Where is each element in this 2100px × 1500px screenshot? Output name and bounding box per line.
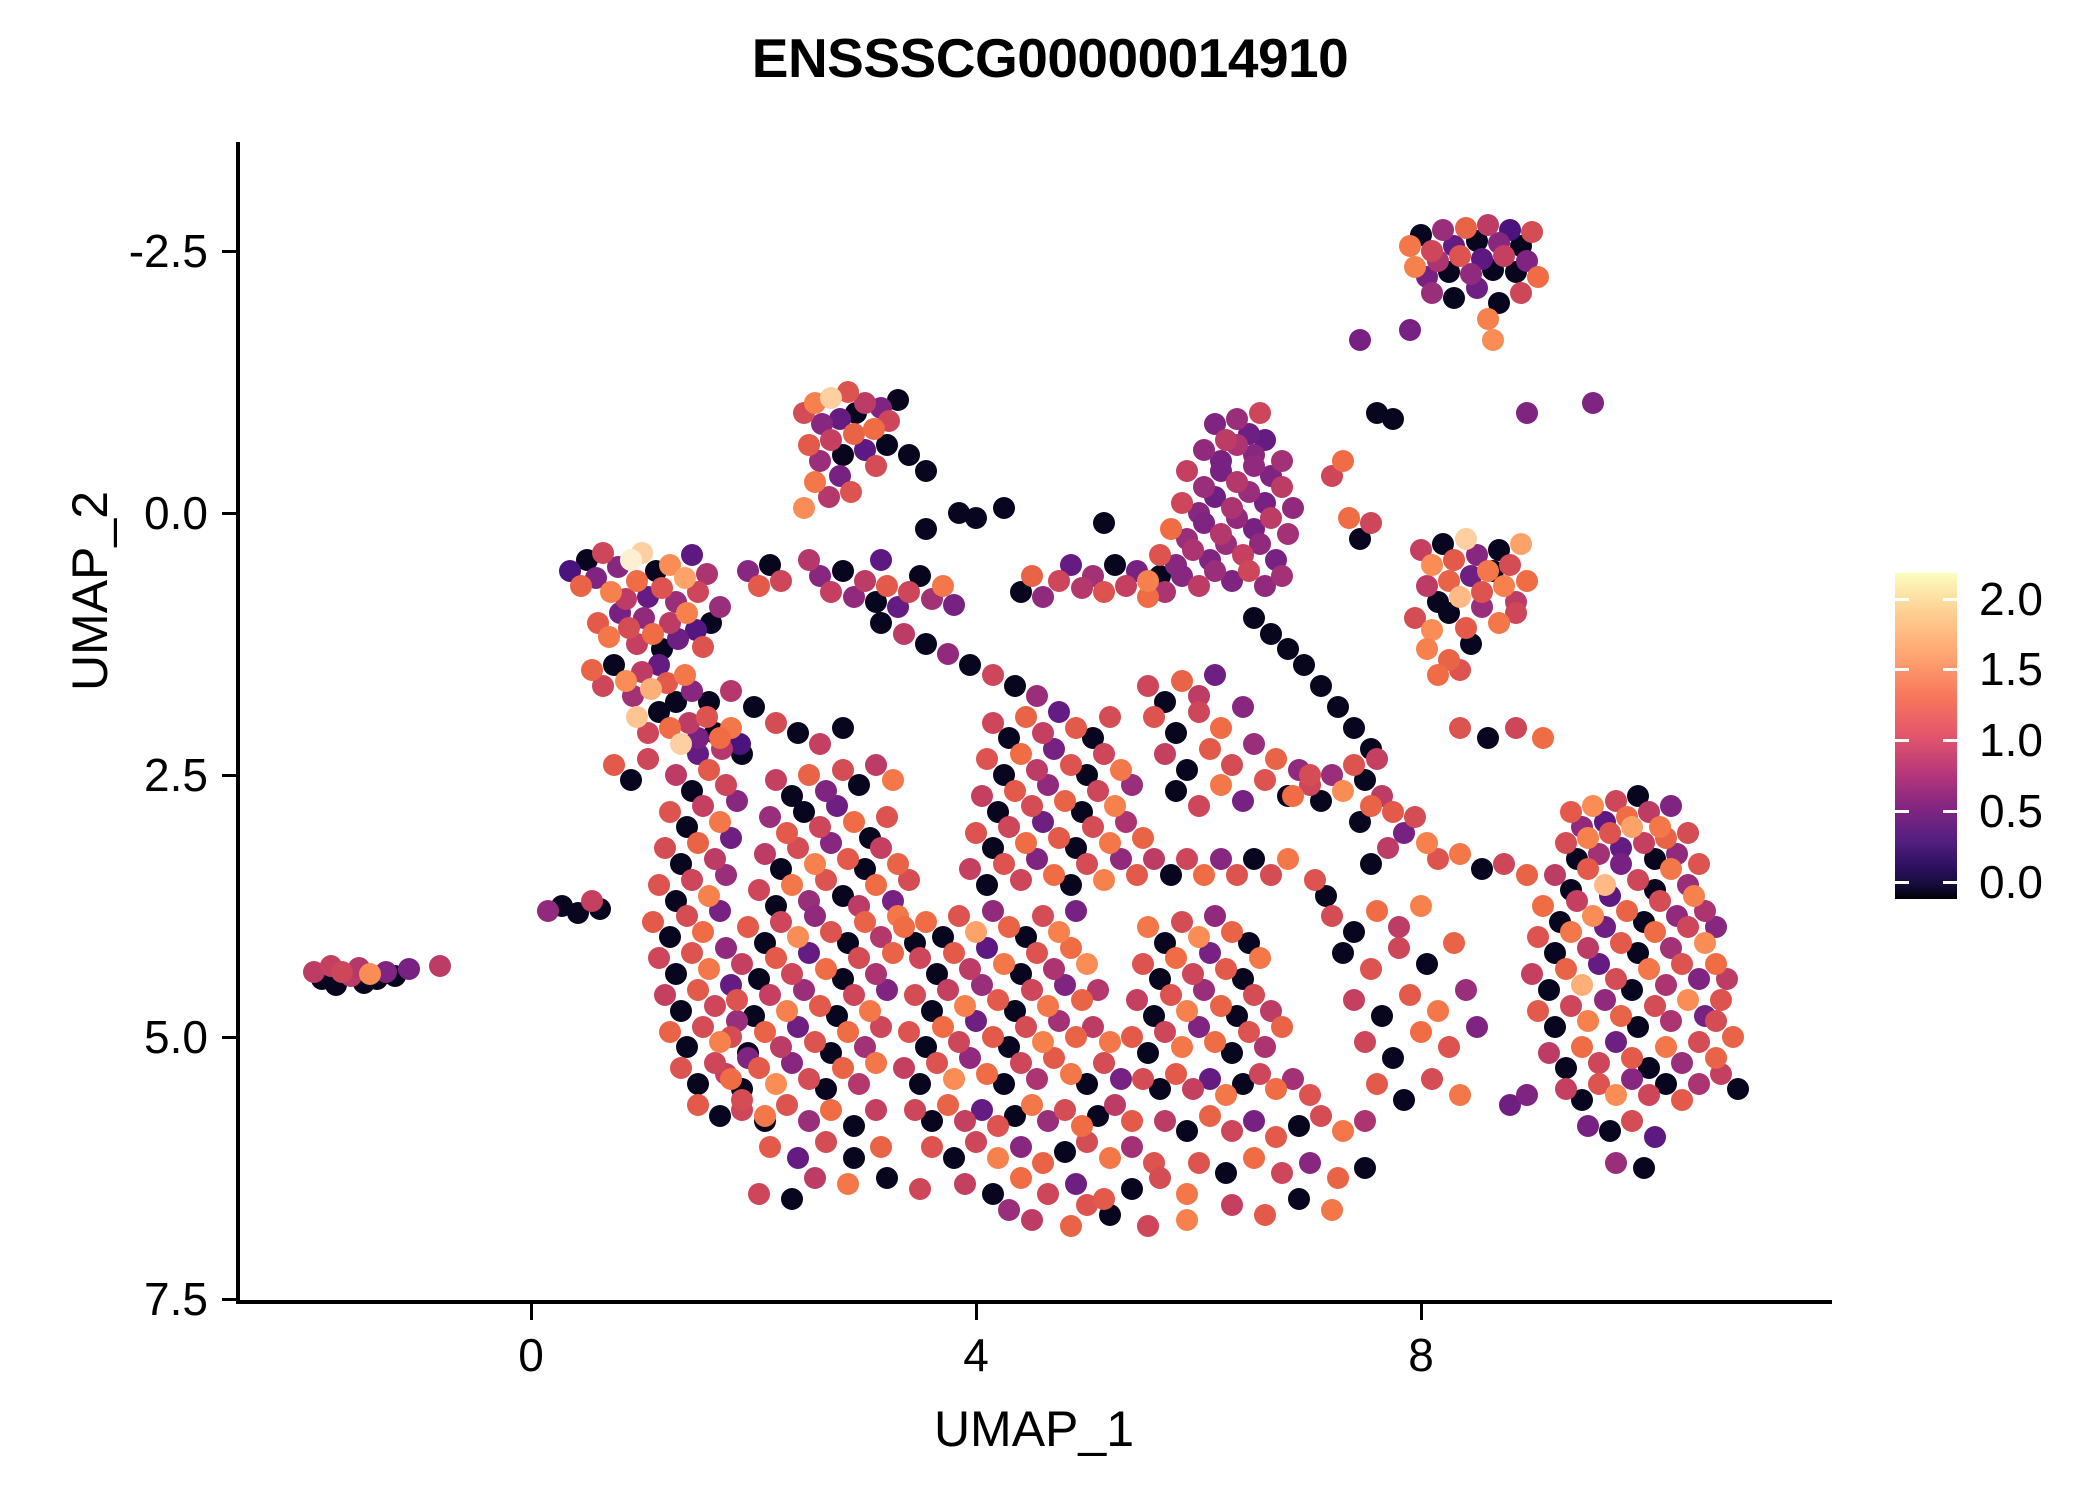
scatter-point	[843, 1115, 865, 1137]
x-tick-mark	[975, 1304, 978, 1320]
scatter-point	[987, 1147, 1009, 1169]
scatter-point	[698, 958, 720, 980]
colorbar-tick-mark	[1895, 598, 1909, 601]
scatter-point	[1188, 926, 1210, 948]
scatter-point	[1577, 1010, 1599, 1032]
scatter-point	[1021, 1209, 1043, 1231]
scatter-point	[1243, 1110, 1265, 1132]
scatter-point	[1288, 1188, 1310, 1210]
scatter-point	[659, 801, 681, 823]
scatter-point	[1660, 858, 1682, 880]
scatter-point	[1093, 581, 1115, 603]
scatter-point	[1449, 245, 1471, 267]
scatter-point	[1527, 266, 1549, 288]
scatter-point	[1416, 575, 1438, 597]
scatter-point	[965, 1131, 987, 1153]
scatter-point	[1449, 1084, 1471, 1106]
scatter-point	[870, 612, 892, 634]
scatter-point	[832, 759, 854, 781]
scatter-point	[1188, 575, 1210, 597]
scatter-point	[876, 806, 898, 828]
scatter-point	[804, 853, 826, 875]
scatter-point	[1110, 759, 1132, 781]
scatter-point	[959, 654, 981, 676]
scatter-point	[1132, 827, 1154, 849]
scatter-point	[1015, 832, 1037, 854]
scatter-point	[1321, 905, 1343, 927]
scatter-point	[1176, 1209, 1198, 1231]
scatter-point	[815, 958, 837, 980]
scatter-point	[1366, 1073, 1388, 1095]
scatter-point	[581, 659, 603, 681]
scatter-point	[876, 575, 898, 597]
colorbar-tick-mark	[1895, 668, 1909, 671]
scatter-point	[709, 596, 731, 618]
scatter-point	[709, 811, 731, 833]
scatter-point	[1416, 832, 1438, 854]
scatter-point	[1271, 565, 1293, 587]
scatter-point	[1582, 392, 1604, 414]
scatter-point	[1555, 832, 1577, 854]
scatter-point	[696, 706, 718, 728]
scatter-point	[692, 636, 714, 658]
scatter-point	[698, 885, 720, 907]
scatter-point	[1671, 1052, 1693, 1074]
scatter-point	[1226, 471, 1248, 493]
scatter-point	[737, 916, 759, 938]
scatter-point	[863, 418, 885, 440]
scatter-point	[932, 575, 954, 597]
scatter-point	[1360, 512, 1382, 534]
scatter-point	[915, 518, 937, 540]
scatter-point	[1093, 1052, 1115, 1074]
y-tick-mark	[222, 1036, 236, 1039]
scatter-point	[1149, 1167, 1171, 1189]
scatter-point	[1026, 942, 1048, 964]
scatter-point	[993, 853, 1015, 875]
scatter-point	[882, 769, 904, 791]
scatter-point	[1249, 947, 1271, 969]
scatter-point	[1221, 921, 1243, 943]
scatter-point	[1438, 1036, 1460, 1058]
scatter-point	[1004, 780, 1026, 802]
scatter-point	[1160, 864, 1182, 886]
scatter-point	[1143, 706, 1165, 728]
scatter-point	[1021, 1094, 1043, 1116]
scatter-point	[1254, 1036, 1276, 1058]
scatter-point	[1054, 790, 1076, 812]
scatter-point	[1060, 754, 1082, 776]
scatter-point	[1199, 1105, 1221, 1127]
scatter-point	[1621, 1110, 1643, 1132]
scatter-point	[1449, 717, 1471, 739]
scatter-point	[626, 570, 648, 592]
scatter-point	[815, 780, 837, 802]
scatter-point	[1021, 795, 1043, 817]
scatter-point	[1655, 974, 1677, 996]
y-axis-title: UMAP_2	[61, 241, 119, 941]
scatter-point	[1204, 1031, 1226, 1053]
scatter-point	[1026, 1068, 1048, 1090]
scatter-point	[1477, 214, 1499, 236]
scatter-point	[1471, 858, 1493, 880]
scatter-point	[887, 853, 909, 875]
scatter-point	[1683, 885, 1705, 907]
scatter-point	[1688, 968, 1710, 990]
scatter-point	[1071, 989, 1093, 1011]
scatter-point	[1299, 1084, 1321, 1106]
scatter-point	[1421, 240, 1443, 262]
scatter-point	[581, 890, 603, 912]
scatter-point	[1605, 968, 1627, 990]
scatter-point	[770, 1036, 792, 1058]
scatter-point	[1455, 979, 1477, 1001]
scatter-point	[965, 921, 987, 943]
scatter-point	[1416, 638, 1438, 660]
scatter-point	[1527, 1000, 1549, 1022]
scatter-point	[1137, 675, 1159, 697]
scatter-point	[993, 953, 1015, 975]
scatter-point	[1354, 1110, 1376, 1132]
scatter-point	[720, 1068, 742, 1090]
scatter-point	[809, 995, 831, 1017]
scatter-point	[998, 1199, 1020, 1221]
scatter-point	[1399, 235, 1421, 257]
colorbar-tick-mark	[1943, 598, 1957, 601]
scatter-point	[865, 874, 887, 896]
scatter-point	[1516, 570, 1538, 592]
scatter-point	[637, 748, 659, 770]
scatter-point	[1176, 1000, 1198, 1022]
scatter-point	[1571, 974, 1593, 996]
scatter-point	[798, 549, 820, 571]
scatter-point	[1277, 848, 1299, 870]
scatter-point	[1171, 670, 1193, 692]
colorbar-tick-mark	[1895, 881, 1909, 884]
scatter-point	[1327, 1167, 1349, 1189]
scatter-point	[1332, 780, 1354, 802]
x-tick-label: 4	[963, 1328, 989, 1382]
scatter-point	[1215, 429, 1237, 451]
scatter-point	[1010, 743, 1032, 765]
scatter-point	[1688, 853, 1710, 875]
scatter-point	[1188, 701, 1210, 723]
scatter-point	[1176, 759, 1198, 781]
scatter-point	[1048, 827, 1070, 849]
scatter-point	[776, 1000, 798, 1022]
scatter-point	[1621, 816, 1643, 838]
scatter-point	[943, 1147, 965, 1169]
scatter-point	[1577, 937, 1599, 959]
scatter-point	[1065, 717, 1087, 739]
x-tick-mark	[1420, 1304, 1423, 1320]
scatter-point	[843, 1147, 865, 1169]
scatter-point	[1176, 1120, 1198, 1142]
scatter-point	[1204, 560, 1226, 582]
scatter-point	[748, 879, 770, 901]
scatter-point	[598, 626, 620, 648]
scatter-point	[837, 1173, 859, 1195]
scatter-point	[870, 1136, 892, 1158]
scatter-point	[1510, 282, 1532, 304]
scatter-point	[1204, 664, 1226, 686]
scatter-point	[1449, 843, 1471, 865]
scatter-point	[709, 1031, 731, 1053]
scatter-point	[1254, 1204, 1276, 1226]
scatter-point	[1182, 963, 1204, 985]
scatter-point	[681, 544, 703, 566]
scatter-point	[865, 455, 887, 477]
scatter-point	[659, 1021, 681, 1043]
scatter-point	[1054, 1141, 1076, 1163]
scatter-point	[748, 575, 770, 597]
scatter-point	[1271, 450, 1293, 472]
scatter-point	[865, 963, 887, 985]
scatter-point	[865, 1099, 887, 1121]
scatter-point	[1154, 1110, 1176, 1132]
scatter-point	[1633, 1157, 1655, 1179]
scatter-point	[1382, 801, 1404, 823]
scatter-point	[1660, 795, 1682, 817]
scatter-point	[1249, 402, 1271, 424]
scatter-point	[1544, 1016, 1566, 1038]
scatter-point	[904, 1099, 926, 1121]
scatter-point	[1377, 837, 1399, 859]
scatter-point	[1538, 979, 1560, 1001]
scatter-point	[1677, 989, 1699, 1011]
scatter-point	[1110, 1068, 1132, 1090]
colorbar-tick-mark	[1943, 810, 1957, 813]
scatter-panel	[236, 142, 1830, 1302]
scatter-point	[674, 664, 696, 686]
scatter-point	[1277, 638, 1299, 660]
scatter-point	[1199, 738, 1221, 760]
scatter-point	[674, 567, 696, 589]
scatter-point	[915, 633, 937, 655]
scatter-point	[1026, 759, 1048, 781]
scatter-point	[1443, 549, 1465, 571]
scatter-point	[1026, 685, 1048, 707]
scatter-point	[1010, 1052, 1032, 1074]
scatter-point	[837, 848, 859, 870]
scatter-point	[1332, 942, 1354, 964]
scatter-point	[937, 643, 959, 665]
scatter-point	[1210, 717, 1232, 739]
scatter-point	[765, 947, 787, 969]
scatter-point	[1505, 717, 1527, 739]
scatter-point	[809, 733, 831, 755]
colorbar-tick-mark	[1943, 881, 1957, 884]
scatter-point	[1516, 864, 1538, 886]
scatter-point	[600, 581, 622, 603]
scatter-point	[776, 1094, 798, 1116]
scatter-point	[1304, 869, 1326, 891]
scatter-point	[1149, 544, 1171, 566]
scatter-point	[1048, 570, 1070, 592]
scatter-point	[592, 542, 614, 564]
scatter-point	[870, 549, 892, 571]
scatter-point	[843, 423, 865, 445]
scatter-point	[893, 916, 915, 938]
scatter-point	[1560, 921, 1582, 943]
scatter-point	[651, 577, 673, 599]
scatter-point	[1599, 822, 1621, 844]
scatter-point	[848, 1073, 870, 1095]
scatter-point	[1265, 748, 1287, 770]
scatter-point	[1210, 523, 1232, 545]
scatter-point	[1060, 1063, 1082, 1085]
scatter-point	[1555, 1057, 1577, 1079]
scatter-point	[1282, 497, 1304, 519]
scatter-point	[1043, 958, 1065, 980]
scatter-point	[1455, 217, 1477, 239]
scatter-point	[904, 984, 926, 1006]
scatter-point	[1655, 1036, 1677, 1058]
scatter-point	[1382, 408, 1404, 430]
scatter-point	[1048, 921, 1070, 943]
scatter-point	[648, 947, 670, 969]
scatter-point	[982, 712, 1004, 734]
scatter-point	[1582, 795, 1604, 817]
scatter-point	[1265, 1126, 1287, 1148]
scatter-point	[1232, 696, 1254, 718]
scatter-point	[654, 837, 676, 859]
scatter-point	[882, 942, 904, 964]
scatter-point	[1449, 586, 1471, 608]
scatter-point	[1260, 623, 1282, 645]
scatter-point	[1288, 1115, 1310, 1137]
scatter-point	[1532, 895, 1554, 917]
scatter-point	[1238, 1021, 1260, 1043]
scatter-point	[943, 1068, 965, 1090]
scatter-point	[1382, 1047, 1404, 1069]
scatter-point	[1594, 874, 1616, 896]
scatter-point	[781, 963, 803, 985]
scatter-point	[537, 900, 559, 922]
scatter-point	[1421, 1068, 1443, 1090]
scatter-point	[965, 822, 987, 844]
scatter-point	[1644, 1126, 1666, 1148]
scatter-point	[765, 712, 787, 734]
scatter-point	[765, 769, 787, 791]
scatter-point	[843, 811, 865, 833]
colorbar-tick-label: 0.0	[1979, 855, 2043, 909]
scatter-point	[893, 623, 915, 645]
scatter-point	[1182, 539, 1204, 561]
scatter-point	[1271, 1016, 1293, 1038]
scatter-point	[1360, 795, 1382, 817]
scatter-point	[1232, 790, 1254, 812]
scatter-point	[976, 874, 998, 896]
scatter-point	[971, 785, 993, 807]
scatter-point	[1705, 1047, 1727, 1069]
scatter-point	[1137, 1215, 1159, 1237]
colorbar-tick-label: 1.5	[1979, 642, 2043, 696]
scatter-point	[1099, 1147, 1121, 1169]
scatter-point	[1032, 586, 1054, 608]
scatter-point	[698, 759, 720, 781]
scatter-point	[1176, 460, 1198, 482]
scatter-point	[1121, 1178, 1143, 1200]
scatter-point	[398, 958, 420, 980]
scatter-point	[1065, 1173, 1087, 1195]
scatter-point	[1065, 900, 1087, 922]
scatter-point	[1722, 1026, 1744, 1048]
colorbar-legend: 0.00.51.01.52.0	[1895, 573, 1957, 899]
scatter-point	[798, 1068, 820, 1090]
scatter-point	[331, 961, 353, 983]
scatter-point	[998, 916, 1020, 938]
scatter-point	[1343, 989, 1365, 1011]
scatter-point	[1605, 1084, 1627, 1106]
scatter-point	[1060, 1215, 1082, 1237]
scatter-point	[1427, 664, 1449, 686]
scatter-point	[731, 1089, 753, 1111]
scatter-point	[1516, 1084, 1538, 1106]
scatter-point	[618, 617, 640, 639]
scatter-point	[1616, 900, 1638, 922]
scatter-point	[1727, 1078, 1749, 1100]
colorbar-tick-mark	[1895, 810, 1909, 813]
scatter-point	[615, 670, 637, 692]
scatter-point	[859, 1000, 881, 1022]
x-axis-title: UMAP_1	[236, 1400, 1832, 1458]
scatter-point	[1443, 287, 1465, 309]
scatter-point	[1193, 439, 1215, 461]
scatter-point	[1354, 1031, 1376, 1053]
scatter-point	[1477, 727, 1499, 749]
scatter-point	[1649, 890, 1671, 912]
scatter-point	[1516, 402, 1538, 424]
scatter-point	[1538, 1042, 1560, 1064]
colorbar-tick-label: 1.0	[1979, 713, 2043, 767]
scatter-point	[1644, 995, 1666, 1017]
y-tick-mark	[222, 250, 236, 253]
scatter-point	[1221, 497, 1243, 519]
scatter-point	[709, 727, 731, 749]
scatter-point	[1093, 869, 1115, 891]
scatter-point	[1188, 1152, 1210, 1174]
scatter-point	[787, 1147, 809, 1169]
scatter-point	[1610, 1005, 1632, 1027]
scatter-point	[1032, 1152, 1054, 1174]
scatter-point	[1360, 853, 1382, 875]
scatter-point	[1327, 696, 1349, 718]
scatter-point	[1671, 1089, 1693, 1111]
scatter-point	[781, 874, 803, 896]
scatter-point	[1121, 1136, 1143, 1158]
scatter-point	[1260, 507, 1282, 529]
scatter-point	[1621, 1047, 1643, 1069]
scatter-point	[1010, 869, 1032, 891]
scatter-point	[987, 989, 1009, 1011]
scatter-point	[1427, 1000, 1449, 1022]
scatter-point	[1694, 932, 1716, 954]
scatter-point	[798, 434, 820, 456]
scatter-point	[1137, 1042, 1159, 1064]
scatter-point	[1354, 1157, 1376, 1179]
scatter-point	[1243, 607, 1265, 629]
y-tick-mark	[222, 512, 236, 515]
scatter-point	[1577, 827, 1599, 849]
scatter-point	[798, 1110, 820, 1132]
scatter-point	[1137, 916, 1159, 938]
scatter-point	[787, 926, 809, 948]
scatter-point	[654, 984, 676, 1006]
scatter-point	[1104, 554, 1126, 576]
scatter-point	[1644, 921, 1666, 943]
scatter-point	[893, 1057, 915, 1079]
